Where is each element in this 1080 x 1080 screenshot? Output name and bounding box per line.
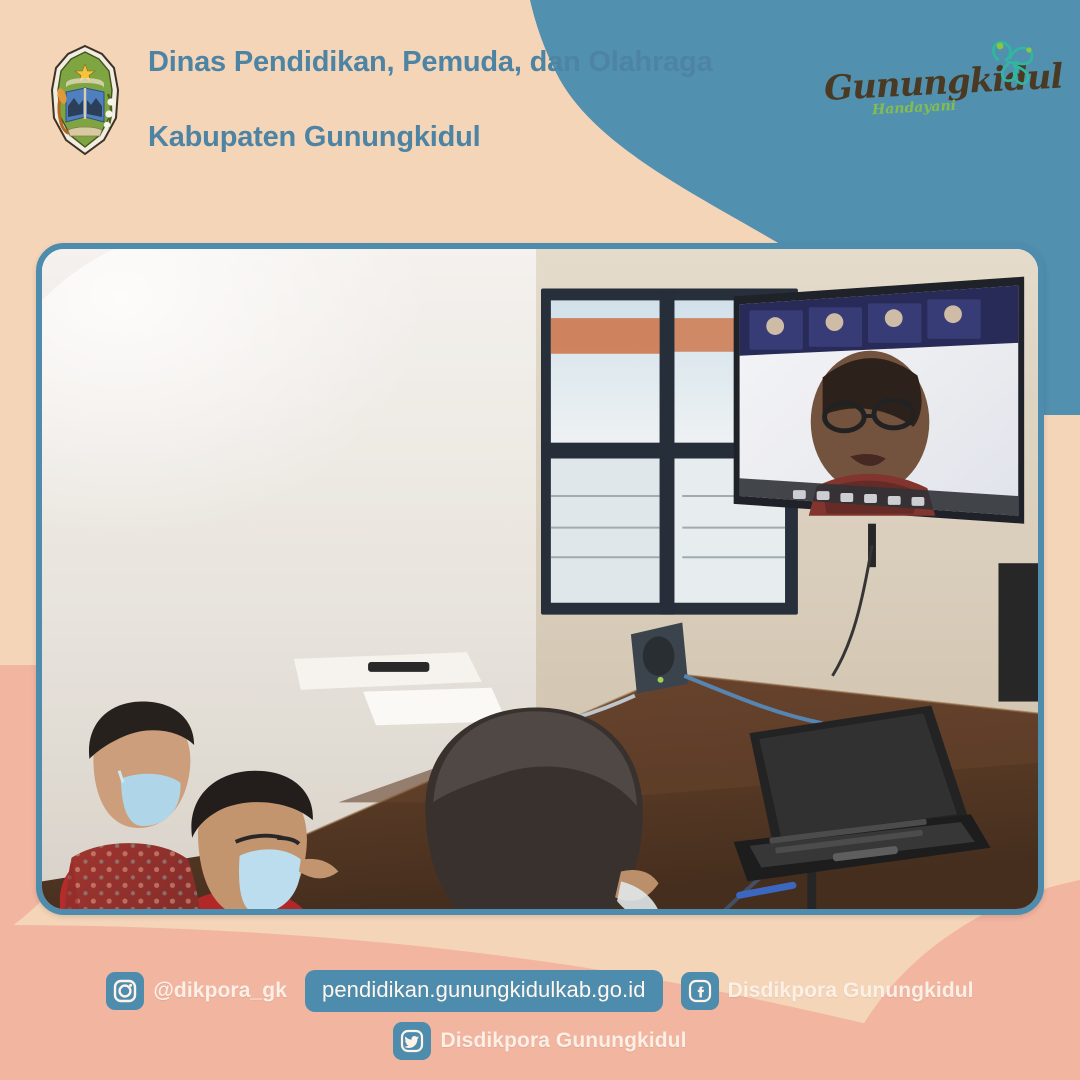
twitter-icon[interactable]	[393, 1022, 431, 1060]
facebook-page-name: Disdikpora Gunungkidul	[728, 979, 974, 1003]
instagram-link[interactable]: @dikpora_gk	[106, 972, 287, 1010]
footer-row-primary: @dikpora_gk pendidikan.gunungkidulkab.go…	[106, 970, 973, 1012]
instagram-icon[interactable]	[106, 972, 144, 1010]
butterfly-flourish-icon	[984, 34, 1042, 90]
facebook-link[interactable]: Disdikpora Gunungkidul	[681, 972, 974, 1010]
org-title-line-1: Dinas Pendidikan, Pemuda, dan Olahraga	[148, 44, 713, 81]
page-title: Dinas Pendidikan, Pemuda, dan Olahraga K…	[148, 7, 713, 193]
event-photo	[42, 249, 1038, 913]
twitter-link[interactable]: Disdikpora Gunungkidul	[393, 1022, 686, 1060]
website-link[interactable]: pendidikan.gunungkidulkab.go.id	[305, 970, 663, 1012]
gunungkidul-regency-crest-icon	[44, 44, 126, 156]
facebook-icon[interactable]	[681, 972, 719, 1010]
twitter-account-name: Disdikpora Gunungkidul	[440, 1029, 686, 1053]
brand-tagline: Handayani	[872, 98, 957, 118]
footer-social-bar: @dikpora_gk pendidikan.gunungkidulkab.go…	[0, 970, 1080, 1060]
instagram-handle: @dikpora_gk	[153, 979, 287, 1003]
org-title-line-2: Kabupaten Gunungkidul	[148, 119, 713, 156]
event-photo-frame	[36, 243, 1044, 915]
footer-row-secondary: Disdikpora Gunungkidul	[393, 1022, 686, 1060]
gunungkidul-brand-logo: Gunungkidul Handayani	[824, 34, 1044, 144]
